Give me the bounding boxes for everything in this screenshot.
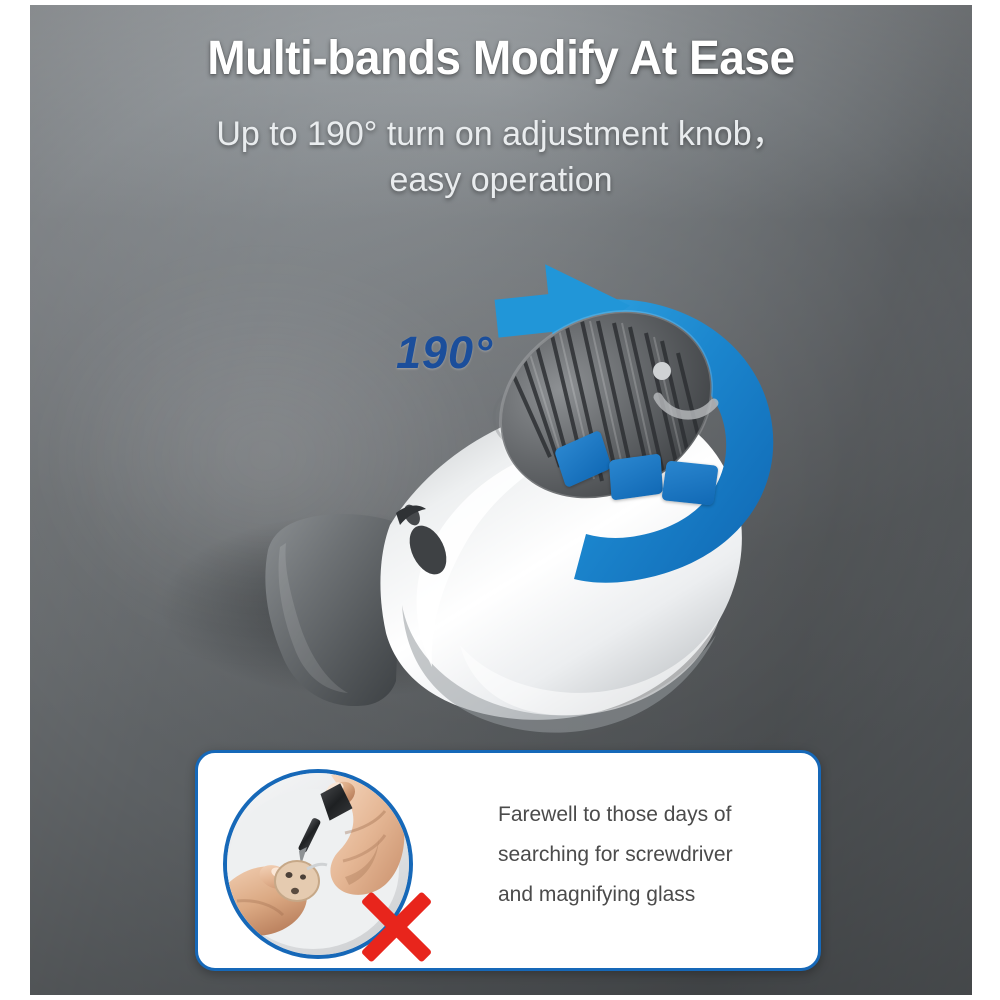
band-indicator-2 — [609, 453, 663, 500]
subtitle-line-1: Up to 190° turn on adjustment knob， — [30, 111, 972, 157]
image-stage: Multi-bands Modify At Ease Up to 190° tu… — [30, 5, 972, 995]
caption-line-1: Farewell to those days of — [498, 795, 798, 835]
caption-line-3: and magnifying glass — [498, 875, 798, 915]
subtitle-line-2: easy operation — [30, 157, 972, 203]
info-card: Farewell to those days of searching for … — [195, 750, 821, 971]
rotation-degrees-label: 190° — [396, 327, 493, 379]
page-subtitle: Up to 190° turn on adjustment knob， easy… — [30, 111, 972, 203]
band-indicator-3 — [661, 460, 718, 505]
red-x-icon — [348, 878, 444, 974]
product-marketing-image: Multi-bands Modify At Ease Up to 190° tu… — [0, 0, 1000, 1000]
card-caption: Farewell to those days of searching for … — [498, 795, 798, 915]
caption-line-2: searching for screwdriver — [498, 835, 798, 875]
page-title: Multi-bands Modify At Ease — [49, 31, 953, 86]
